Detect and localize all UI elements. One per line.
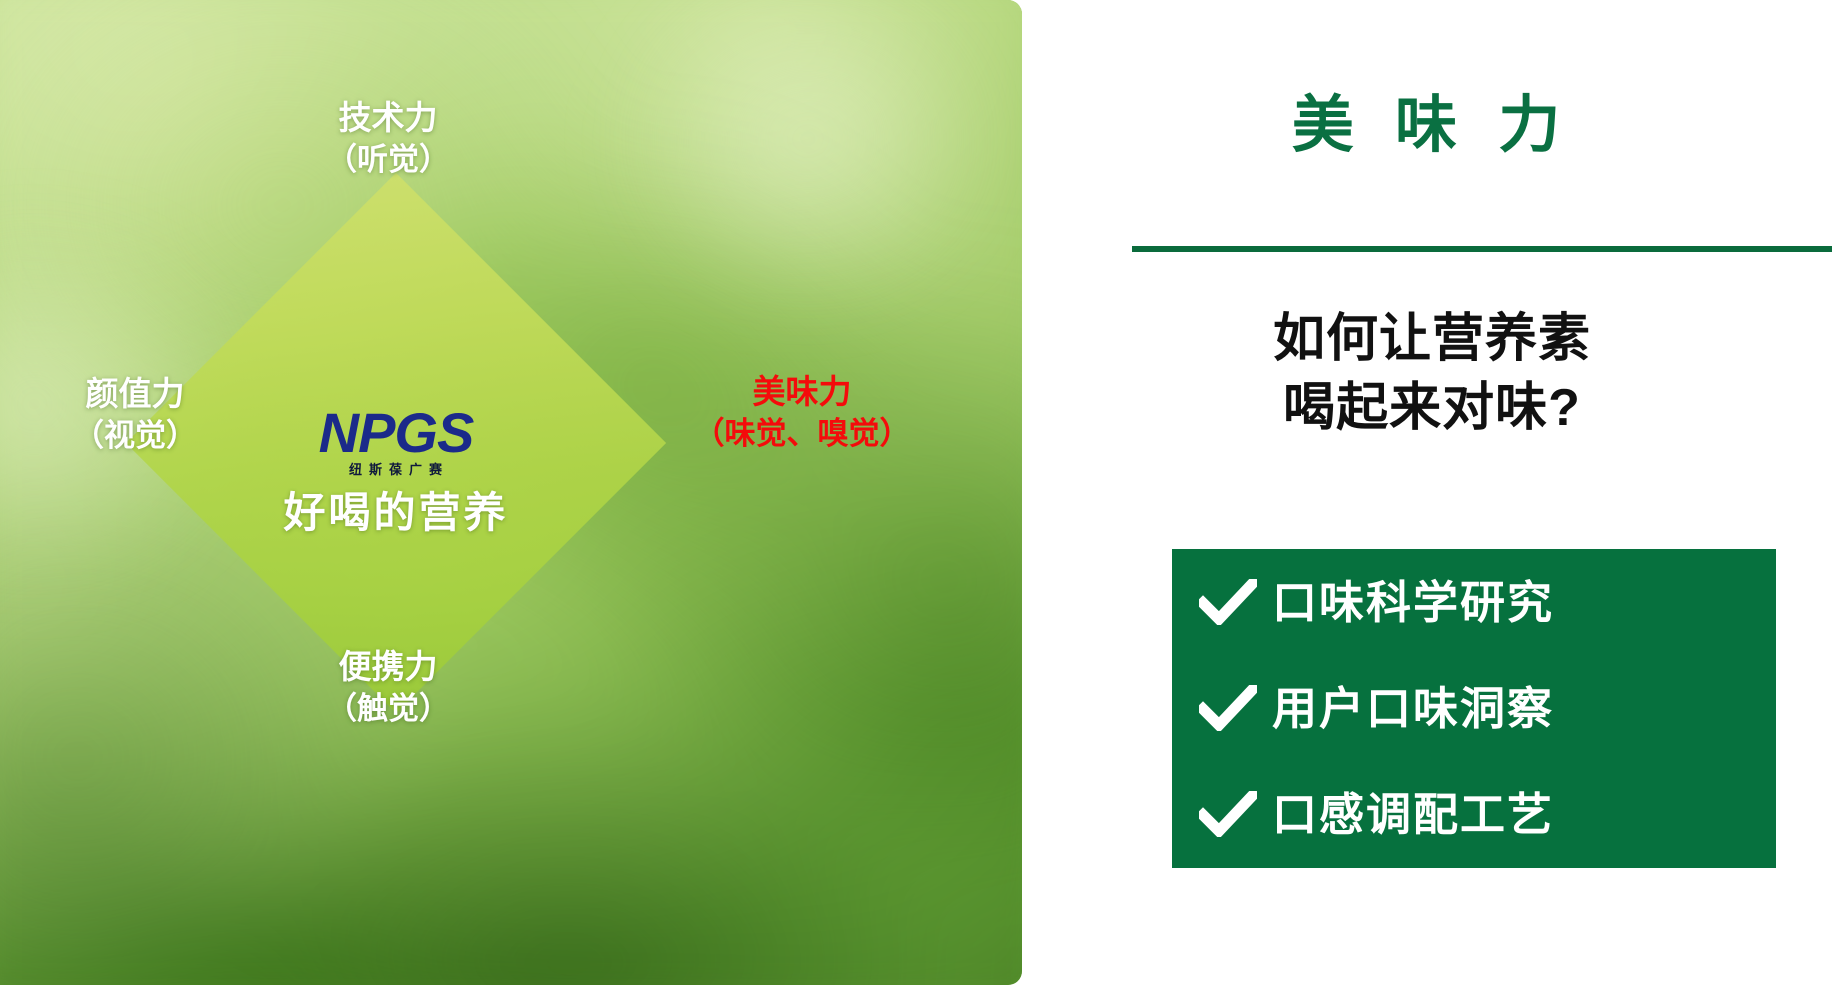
label-technology-sense: （听觉） bbox=[258, 140, 518, 181]
label-taste-sense: （味觉、嗅觉） bbox=[592, 414, 1012, 455]
list-item-label: 口味科学研究 bbox=[1272, 580, 1554, 625]
right-content-panel: 美 味 力 如何让营养素 喝起来对味? 口味科学研究 bbox=[1022, 0, 1842, 985]
diamond-content: NPGS 纽斯葆广赛 好喝的营养 bbox=[205, 252, 587, 634]
logo-subtitle: 纽斯葆广赛 bbox=[349, 463, 449, 476]
label-portability-touch: 便携力 （触觉） bbox=[258, 645, 518, 729]
label-appearance-sight: 颜值力 （视觉） bbox=[10, 372, 260, 456]
list-item-label: 用户口味洞察 bbox=[1272, 686, 1554, 731]
section-heading-line-1: 如何让营养素 bbox=[1022, 305, 1842, 374]
label-taste-highlighted: 美味力 （味觉、嗅觉） bbox=[592, 370, 1012, 454]
section-heading-line-2: 喝起来对味? bbox=[1022, 374, 1842, 443]
npgs-logo: NPGS 纽斯葆广赛 bbox=[319, 405, 474, 476]
title-divider bbox=[1132, 246, 1832, 252]
list-item: 用户口味洞察 bbox=[1172, 655, 1776, 761]
label-appearance-sense: （视觉） bbox=[10, 416, 260, 457]
list-item-label: 口感调配工艺 bbox=[1272, 792, 1554, 837]
check-icon bbox=[1196, 786, 1260, 842]
label-technology-hearing: 技术力 （听觉） bbox=[258, 96, 518, 180]
check-icon bbox=[1196, 680, 1260, 736]
label-taste-name: 美味力 bbox=[592, 370, 1012, 414]
label-portability-name: 便携力 bbox=[258, 645, 518, 689]
checklist-panel: 口味科学研究 用户口味洞察 口感调配工艺 bbox=[1172, 549, 1776, 868]
check-icon bbox=[1196, 574, 1260, 630]
label-technology-name: 技术力 bbox=[258, 96, 518, 140]
list-item: 口味科学研究 bbox=[1172, 549, 1776, 655]
list-item: 口感调配工艺 bbox=[1172, 761, 1776, 867]
label-appearance-name: 颜值力 bbox=[10, 372, 260, 416]
diamond-tagline: 好喝的营养 bbox=[283, 492, 508, 534]
section-heading: 如何让营养素 喝起来对味? bbox=[1022, 305, 1842, 442]
label-portability-sense: （触觉） bbox=[258, 689, 518, 730]
page-title: 美 味 力 bbox=[1022, 95, 1842, 157]
logo-wordmark: NPGS bbox=[319, 405, 474, 461]
slide-root: NPGS 纽斯葆广赛 好喝的营养 技术力 （听觉） 颜值力 （视觉） 美味力 （… bbox=[0, 0, 1842, 985]
